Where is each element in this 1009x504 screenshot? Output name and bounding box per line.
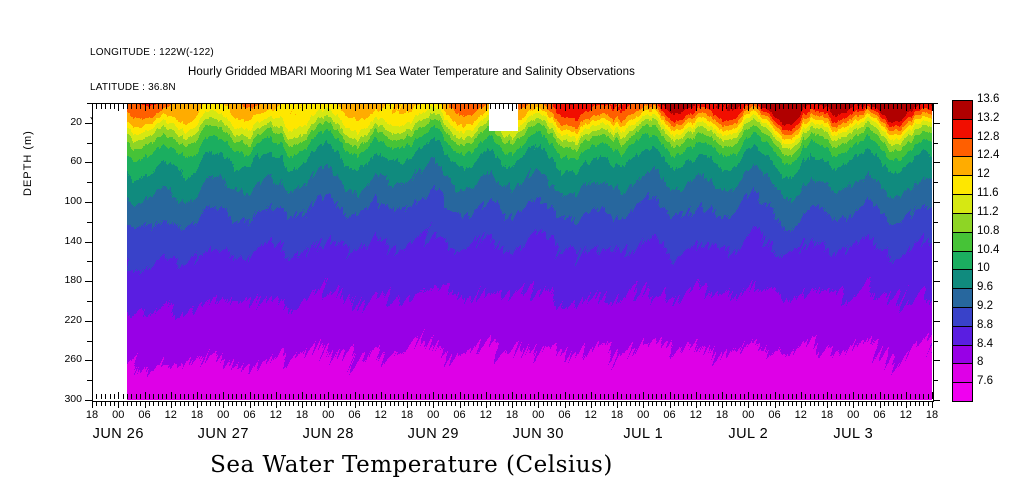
tick-mark [880,401,881,408]
x-hour-label: 18 [702,409,742,421]
tick-mark [933,360,940,361]
tick-mark [595,401,596,406]
tick-mark [630,401,631,406]
tick-mark [263,401,264,406]
tick-mark [643,401,644,408]
colorbar-swatch [952,251,973,271]
tick-mark [608,401,609,406]
tick-mark [600,401,601,406]
y-tick-label: 180 [42,274,82,286]
colorbar-tick-label: 12.8 [977,131,999,143]
figure-root: LONGITUDE : 122W(-122) LATITUDE : 36.8N … [0,0,1009,504]
colorbar-tick-label: 9.6 [977,281,993,293]
tick-mark [451,401,452,406]
tick-mark [674,401,675,406]
tick-mark [788,401,789,406]
tick-mark [499,401,500,406]
tick-mark [933,222,938,223]
colorbar-tick-label: 8.4 [977,338,993,350]
tick-mark [328,401,329,408]
colorbar-swatch [952,138,973,158]
tick-mark [162,401,163,406]
tick-mark [556,401,557,406]
tick-mark [486,401,487,408]
x-day-label: JUL 3 [793,426,913,442]
x-hour-label: 12 [676,409,716,421]
tick-mark [709,401,710,406]
tick-mark [175,401,176,406]
tick-mark [416,401,417,406]
tick-mark [792,401,793,406]
colorbar-swatch [952,119,973,139]
tick-mark [827,401,828,408]
tick-mark [648,401,649,406]
tick-mark [219,401,220,406]
tick-mark [578,401,579,406]
tick-mark [748,401,749,408]
tick-mark [315,401,316,406]
tick-mark [551,401,552,406]
tick-mark [359,401,360,406]
x-hour-label: 06 [545,409,585,421]
tick-mark [933,162,940,163]
tick-mark [665,401,666,406]
tick-mark [429,401,430,406]
tick-mark [145,401,146,408]
x-hour-label: 00 [308,409,348,421]
tick-mark [85,162,92,163]
tick-mark [560,401,561,406]
tick-mark [933,261,938,262]
chart-title: Hourly Gridded MBARI Mooring M1 Sea Wate… [0,66,1009,78]
x-hour-label: 18 [72,409,112,421]
colorbar-swatch [952,175,973,195]
colorbar-tick-label: 10.8 [977,225,999,237]
tick-mark [635,401,636,406]
tick-mark [933,202,940,203]
tick-mark [215,401,216,406]
x-hour-label: 12 [571,409,611,421]
x-hour-label: 18 [282,409,322,421]
tick-mark [346,401,347,406]
x-day-label: JUN 27 [163,426,283,442]
tick-mark [866,401,867,406]
x-hour-label: 12 [466,409,506,421]
tick-mark [888,401,889,406]
tick-mark [206,401,207,406]
tick-mark [118,401,119,408]
tick-mark [933,103,938,104]
tick-mark [805,401,806,406]
tick-mark [481,401,482,406]
tick-mark [136,401,137,406]
tick-mark [670,401,671,408]
x-hour-label: 00 [98,409,138,421]
tick-mark [446,401,447,406]
colorbar-swatch [952,382,973,402]
tick-mark [853,401,854,408]
tick-mark [849,401,850,406]
colorbar-swatch [952,269,973,289]
tick-mark [245,401,246,406]
tick-mark [933,182,938,183]
tick-mark [932,104,933,111]
tick-mark [197,401,198,408]
x-hour-label: 18 [492,409,532,421]
tick-mark [933,400,940,401]
tick-mark [840,401,841,406]
tick-mark [455,401,456,406]
colorbar-tick-label: 10.4 [977,244,999,256]
colorbar-tick-label: 11.6 [977,187,999,199]
tick-mark [110,401,111,406]
colorbar-swatch [952,363,973,383]
tick-mark [884,401,885,406]
tick-mark [923,401,924,406]
tick-mark [818,401,819,406]
tick-mark [280,401,281,406]
x-hour-label: 00 [518,409,558,421]
figure-caption: Sea Water Temperature (Celsius) [0,452,1009,478]
tick-mark [687,401,688,406]
colorbar-swatch [952,232,973,252]
tick-mark [713,401,714,406]
tick-mark [656,401,657,406]
x-day-label: JUN 26 [58,426,178,442]
tick-mark [228,401,229,406]
tick-mark [193,401,194,406]
colorbar-tick-label: 12 [977,168,990,180]
tick-mark [140,401,141,406]
tick-mark [530,401,531,406]
x-hour-label: 06 [335,409,375,421]
tick-mark [933,143,938,144]
tick-mark [591,401,592,408]
x-hour-label: 06 [125,409,165,421]
tick-mark [525,401,526,406]
tick-mark [508,401,509,406]
x-hour-label: 18 [177,409,217,421]
colorbar-swatch [952,288,973,308]
tick-mark [376,401,377,406]
tick-mark [766,401,767,406]
tick-mark [276,401,277,408]
tick-mark [573,401,574,406]
tick-mark [919,401,920,406]
colorbar-swatch [952,307,973,327]
tick-mark [810,401,811,406]
tick-mark [621,401,622,406]
tick-mark [460,401,461,408]
colorbar [952,100,973,401]
tick-mark [105,401,106,406]
tick-mark [862,401,863,406]
x-hour-label: 18 [387,409,427,421]
tick-mark [333,401,334,406]
tick-mark [337,401,338,406]
colorbar-tick-label: 8 [977,356,983,368]
tick-mark [302,401,303,408]
x-hour-label: 06 [650,409,690,421]
tick-mark [92,401,93,408]
colorbar-swatch [952,156,973,176]
x-hour-label: 00 [203,409,243,421]
tick-mark [744,401,745,406]
tick-mark [761,401,762,406]
tick-mark [85,400,92,401]
tick-mark [372,401,373,406]
tick-mark [933,341,938,342]
tick-mark [350,401,351,406]
x-hour-label: 00 [833,409,873,421]
x-day-label: JUL 2 [688,426,808,442]
tick-mark [101,401,102,406]
longitude-text: LONGITUDE : 122W(-122) [90,47,214,59]
colorbar-swatch [952,326,973,346]
tick-mark [438,401,439,406]
tick-mark [933,123,940,124]
figure-caption-text: Sea Water Temperature (Celsius) [210,452,613,478]
colorbar-tick-label: 10 [977,262,990,274]
tick-mark [420,401,421,406]
colorbar-tick-label: 12.4 [977,149,999,161]
tick-mark [473,401,474,406]
tick-mark [96,401,97,406]
tick-mark [779,401,780,406]
tick-mark [433,401,434,408]
y-tick-label: 100 [42,195,82,207]
x-day-label: JUL 1 [583,426,703,442]
latitude-text: LATITUDE : 36.8N [90,82,214,94]
tick-mark [363,401,364,406]
tick-mark [158,401,159,406]
tick-mark [933,281,940,282]
tick-mark [123,401,124,406]
tick-mark [836,401,837,406]
tick-mark [188,401,189,406]
tick-mark [705,401,706,406]
x-hour-label: 12 [781,409,821,421]
x-hour-label: 00 [623,409,663,421]
tick-mark [293,401,294,406]
chart-title-text: Hourly Gridded MBARI Mooring M1 Sea Wate… [188,66,635,78]
tick-mark [569,401,570,406]
tick-mark [700,401,701,406]
tick-mark [411,401,412,406]
tick-mark [731,401,732,406]
tick-mark [394,401,395,406]
tick-mark [718,401,719,406]
tick-mark [271,401,272,406]
tick-mark [241,401,242,406]
tick-mark [512,401,513,408]
y-tick-label: 140 [42,235,82,247]
tick-mark [385,401,386,406]
tick-mark [184,401,185,406]
tick-mark [770,401,771,406]
tick-mark [285,401,286,406]
tick-mark [726,401,727,406]
tick-mark [652,401,653,406]
y-tick-label: 20 [42,116,82,128]
tick-mark [933,242,940,243]
tick-mark [85,202,92,203]
tick-mark [678,401,679,406]
colorbar-tick-label: 7.6 [977,375,993,387]
tick-mark [390,401,391,406]
tick-mark [858,401,859,406]
tick-mark [932,392,933,399]
tick-mark [783,401,784,406]
tick-mark [823,401,824,406]
tick-mark [801,401,802,408]
tick-mark [477,401,478,406]
colorbar-swatch [952,345,973,365]
y-tick-label: 220 [42,314,82,326]
tick-mark [933,301,938,302]
tick-mark [538,401,539,408]
tick-mark [85,281,92,282]
tick-mark [201,401,202,406]
tick-mark [906,401,907,408]
tick-mark [626,401,627,406]
x-hour-label: 12 [151,409,191,421]
temperature-heatmap [92,103,932,400]
tick-mark [831,401,832,406]
tick-mark [368,401,369,406]
tick-mark [901,401,902,406]
tick-mark [210,401,211,406]
tick-mark [341,401,342,406]
x-hour-label: 18 [912,409,952,421]
tick-mark [775,401,776,408]
tick-mark [871,401,872,406]
tick-mark [586,401,587,406]
x-hour-label: 12 [256,409,296,421]
tick-mark [85,321,92,322]
x-hour-label: 18 [597,409,637,421]
x-hour-label: 06 [755,409,795,421]
tick-mark [403,401,404,406]
tick-mark [547,401,548,406]
tick-mark [845,401,846,406]
tick-mark [232,401,233,406]
tick-mark [753,401,754,406]
tick-mark [639,401,640,406]
tick-mark [503,401,504,406]
tick-mark [223,401,224,408]
tick-mark [613,401,614,406]
tick-mark [490,401,491,406]
colorbar-swatch [952,194,973,214]
y-axis-title: DEPTH (m) [22,130,34,196]
x-day-label: JUN 29 [373,426,493,442]
tick-mark [398,401,399,406]
tick-mark [893,401,894,406]
tick-mark [355,401,356,408]
tick-mark [516,401,517,406]
tick-mark [407,401,408,408]
tick-mark [933,380,938,381]
tick-mark [258,401,259,406]
colorbar-tick-label: 13.2 [977,112,999,124]
tick-mark [565,401,566,408]
tick-mark [521,401,522,406]
tick-mark [114,401,115,406]
tick-mark [131,401,132,406]
x-hour-label: 06 [230,409,270,421]
colorbar-tick-label: 11.2 [977,206,999,218]
x-day-label: JUN 28 [268,426,388,442]
y-tick-label: 260 [42,353,82,365]
tick-mark [289,401,290,406]
tick-mark [722,401,723,408]
tick-mark [691,401,692,406]
tick-mark [932,401,933,408]
x-hour-label: 06 [440,409,480,421]
tick-mark [153,401,154,406]
tick-mark [495,401,496,406]
tick-mark [468,401,469,406]
tick-mark [250,401,251,408]
tick-mark [85,242,92,243]
tick-mark [661,401,662,406]
tick-mark [534,401,535,406]
x-day-label: JUN 30 [478,426,598,442]
tick-mark [814,401,815,406]
colorbar-swatch [952,100,973,120]
tick-mark [254,401,255,406]
tick-mark [149,401,150,406]
y-tick-label: 300 [42,393,82,405]
colorbar-tick-label: 13.6 [977,93,999,105]
tick-mark [604,401,605,406]
tick-mark [897,401,898,406]
x-hour-label: 12 [361,409,401,421]
tick-mark [267,401,268,406]
tick-mark [425,401,426,406]
tick-mark [735,401,736,406]
y-tick-label: 60 [42,155,82,167]
tick-mark [236,401,237,406]
tick-mark [910,401,911,406]
tick-mark [311,401,312,406]
tick-mark [464,401,465,406]
tick-mark [757,401,758,406]
x-hour-label: 06 [860,409,900,421]
tick-mark [127,401,128,406]
tick-mark [85,360,92,361]
x-hour-label: 00 [413,409,453,421]
x-hour-label: 12 [886,409,926,421]
tick-mark [320,401,321,406]
tick-mark [180,401,181,406]
tick-mark [617,401,618,408]
tick-mark [740,401,741,406]
tick-mark [171,401,172,408]
tick-mark [696,401,697,408]
tick-mark [796,401,797,406]
tick-mark [306,401,307,406]
tick-mark [381,401,382,408]
tick-mark [166,401,167,406]
tick-mark [324,401,325,406]
tick-mark [582,401,583,406]
tick-mark [298,401,299,406]
x-hour-label: 00 [728,409,768,421]
tick-mark [683,401,684,406]
colorbar-tick-label: 9.2 [977,300,993,312]
